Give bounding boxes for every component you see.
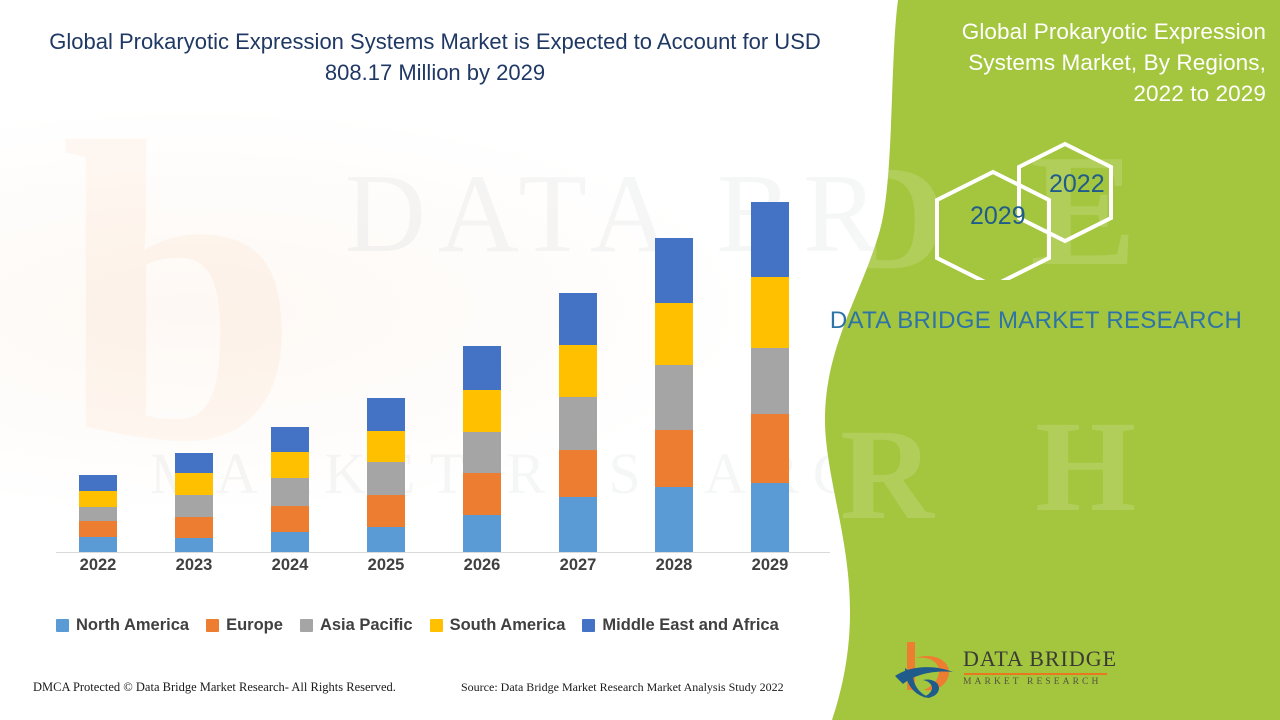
axis-baseline: [56, 552, 830, 553]
bar-segment: [367, 495, 405, 527]
bar-segment: [79, 491, 117, 507]
logo-text-block: DATA BRIDGE MARKET RESEARCH: [963, 646, 1117, 687]
bar-segment: [655, 238, 693, 303]
legend-item[interactable]: South America: [430, 616, 566, 635]
hexagon-2022-label: 2022: [1049, 170, 1105, 199]
bar-segment: [367, 527, 405, 552]
x-axis-tick-2026: 2026: [434, 556, 530, 575]
footer: DMCA Protected © Data Bridge Market Rese…: [0, 680, 880, 720]
bar-segment: [463, 390, 501, 432]
bar-segment: [751, 348, 789, 414]
logo-divider: [964, 673, 1107, 675]
legend-label: South America: [450, 616, 566, 635]
bar-segment: [271, 506, 309, 532]
x-axis-tick-2025: 2025: [338, 556, 434, 575]
bar-group-2026: [463, 346, 501, 552]
legend-item[interactable]: Middle East and Africa: [582, 616, 778, 635]
page-title: Global Prokaryotic Expression Systems Ma…: [40, 26, 830, 88]
bar-segment: [175, 538, 213, 552]
bar-segment: [655, 487, 693, 552]
bar-segment: [463, 515, 501, 552]
x-axis-tick-2028: 2028: [626, 556, 722, 575]
source-note: Source: Data Bridge Market Research Mark…: [461, 680, 784, 695]
legend-item[interactable]: Asia Pacific: [300, 616, 413, 635]
bar-group-2024: [271, 427, 309, 552]
chart-area: b DATA BRIDGE MARKET RESEARCH Global Pro…: [0, 0, 880, 720]
bar-group-2029: [751, 202, 789, 552]
legend-item[interactable]: North America: [56, 616, 189, 635]
brand-name: DATA BRIDGE MARKET RESEARCH: [820, 305, 1280, 337]
bar-segment: [655, 365, 693, 430]
green-side-panel: D E R H Global Prokaryotic Expression Sy…: [820, 0, 1280, 720]
bar-group-2022: [79, 475, 117, 552]
ghost-letter-r: R: [840, 400, 934, 550]
legend-swatch-icon: [300, 619, 313, 632]
bar-segment: [79, 521, 117, 537]
bar-segment: [559, 345, 597, 397]
legend-swatch-icon: [582, 619, 595, 632]
x-axis-tick-2023: 2023: [146, 556, 242, 575]
x-axis-tick-2022: 2022: [50, 556, 146, 575]
bar-segment: [79, 507, 117, 521]
bar-segment: [367, 462, 405, 495]
bar-segment: [175, 495, 213, 517]
plot-area: [56, 150, 830, 553]
legend-swatch-icon: [56, 619, 69, 632]
data-bridge-logo: DATA BRIDGE MARKET RESEARCH: [893, 638, 1123, 704]
bar-segment: [175, 517, 213, 538]
bar-segment: [559, 397, 597, 450]
x-axis-tick-2027: 2027: [530, 556, 626, 575]
bar-segment: [559, 450, 597, 497]
hexagon-2029-label: 2029: [970, 202, 1026, 231]
bar-segment: [655, 303, 693, 365]
ghost-letter-h: H: [1035, 392, 1136, 542]
x-axis-labels: 20222023202420252026202720282029: [56, 556, 830, 586]
bar-group-2027: [559, 293, 597, 552]
bar-segment: [559, 497, 597, 552]
logo-mark-icon: [893, 638, 965, 700]
bar-segment: [751, 202, 789, 277]
legend-swatch-icon: [206, 619, 219, 632]
bar-segment: [367, 398, 405, 431]
legend-item[interactable]: Europe: [206, 616, 283, 635]
x-axis-tick-2029: 2029: [722, 556, 818, 575]
chart-legend: North AmericaEuropeAsia PacificSouth Ame…: [56, 616, 846, 635]
bar-group-2028: [655, 238, 693, 552]
bar-segment: [175, 473, 213, 495]
bar-segment: [751, 414, 789, 483]
bar-segment: [655, 430, 693, 487]
logo-subtitle: MARKET RESEARCH: [963, 677, 1117, 687]
bar-segment: [463, 432, 501, 473]
bar-group-2025: [367, 398, 405, 552]
bar-segment: [463, 473, 501, 515]
legend-swatch-icon: [430, 619, 443, 632]
legend-label: Asia Pacific: [320, 616, 413, 635]
bar-segment: [79, 475, 117, 491]
bar-segment: [271, 452, 309, 478]
bar-segment: [271, 532, 309, 552]
panel-title: Global Prokaryotic Expression Systems Ma…: [926, 16, 1266, 109]
legend-label: Europe: [226, 616, 283, 635]
legend-label: North America: [76, 616, 189, 635]
bar-segment: [271, 427, 309, 452]
logo-title: DATA BRIDGE: [963, 646, 1117, 672]
bar-group-2023: [175, 453, 213, 552]
legend-label: Middle East and Africa: [602, 616, 778, 635]
x-axis-tick-2024: 2024: [242, 556, 338, 575]
dmca-notice: DMCA Protected © Data Bridge Market Rese…: [33, 680, 396, 695]
hexagon-shapes: [930, 140, 1150, 280]
bar-segment: [559, 293, 597, 345]
hexagon-group: 2022 2029: [930, 140, 1150, 280]
bar-segment: [751, 277, 789, 348]
bar-segment: [79, 537, 117, 552]
bar-segment: [463, 346, 501, 390]
bar-segment: [367, 431, 405, 462]
bar-segment: [751, 483, 789, 552]
bar-segment: [271, 478, 309, 506]
bar-segment: [175, 453, 213, 473]
